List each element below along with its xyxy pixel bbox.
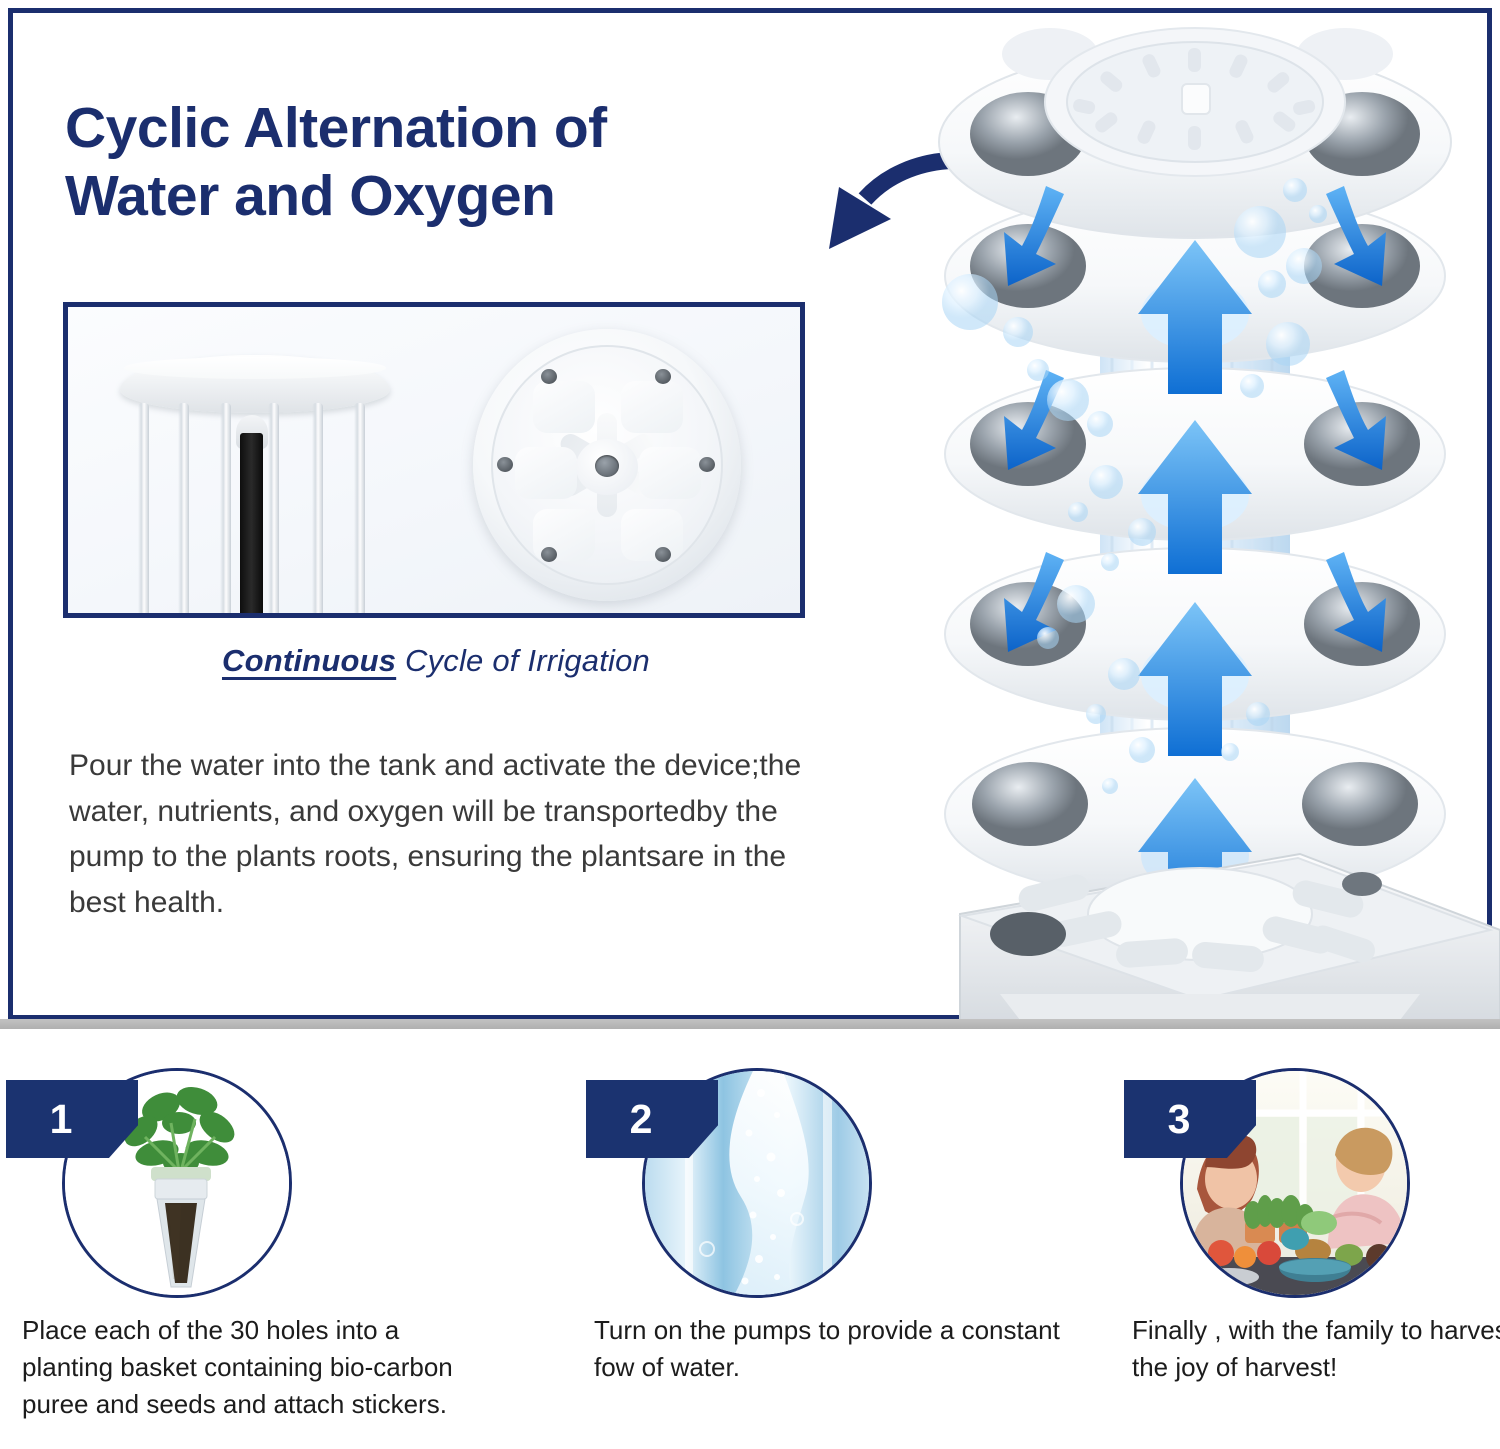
page-title-line-1: Cyclic Alternation of [65,95,825,163]
disc-screw [699,457,715,472]
step-caption: Turn on the pumps to provide a constant … [594,1312,1064,1386]
basket-body [132,403,376,618]
step-caption: Finally , with the family to harvest the… [1132,1312,1500,1386]
hydroponic-tower-illustration [900,14,1500,1020]
base-small-port [1342,872,1382,896]
disc-pad [533,381,595,433]
infographic-page: Cyclic Alternation of Water and Oxygen [0,0,1500,1449]
steps-row: 1 Place each of the 30 holes into a plan… [0,1062,1500,1449]
product-photo-frame [63,302,805,618]
step-item: 1 Place each of the 30 holes into a plan… [0,1062,500,1449]
step-item: 3 Finally , with the family to harvest t… [1118,1062,1500,1449]
basket-rib [312,403,323,618]
cap-center-knob [1182,84,1210,114]
disc-screw [655,369,671,384]
step-media: 3 [1118,1062,1500,1300]
photo-caption: Continuous Cycle of Irrigation [65,643,807,679]
step-media: 2 [580,1062,1040,1300]
reservoir-body [1000,994,1420,1020]
basket-rib [268,403,279,618]
basket-rib [138,403,149,618]
basket-collar [155,1179,207,1199]
step-number-badge: 3 [1124,1080,1256,1158]
disc-screw [541,369,557,384]
step-item: 2 Turn on the pumps to provide a constan… [580,1062,1080,1449]
page-title-line-2: Water and Oxygen [65,163,825,231]
disc-pad [621,509,683,561]
disc-center-hole [595,455,619,477]
basket-black-core [240,433,263,618]
step-media: 1 [0,1062,460,1300]
photo-caption-rest: Cycle of Irrigation [396,643,650,678]
section-divider [0,1019,1500,1029]
basket-rib [178,403,189,618]
teal-cup [1281,1228,1309,1250]
basket-rib [354,403,365,618]
plate [1199,1268,1259,1286]
base-dark-port [990,912,1066,956]
disc-pad [515,447,577,499]
disc-screw [497,457,513,472]
pump-cover-underside-disc [473,329,741,601]
step-caption: Place each of the 30 holes into a planti… [22,1312,492,1423]
photo-caption-emphasis: Continuous [222,643,396,678]
body-paragraph: Pour the water into the tank and activat… [69,743,839,925]
product-photo-frame-inner [68,307,800,613]
tower-top-cap [939,28,1451,238]
disc-pad [639,447,701,499]
disc-screw [655,547,671,562]
disc-pad [621,381,683,433]
page-title: Cyclic Alternation of Water and Oxygen [65,95,825,231]
disc-screw [541,547,557,562]
step-number-badge: 1 [6,1080,138,1158]
tower-svg [900,14,1500,1020]
basket-rib [220,403,231,618]
step-number-badge: 2 [586,1080,718,1158]
